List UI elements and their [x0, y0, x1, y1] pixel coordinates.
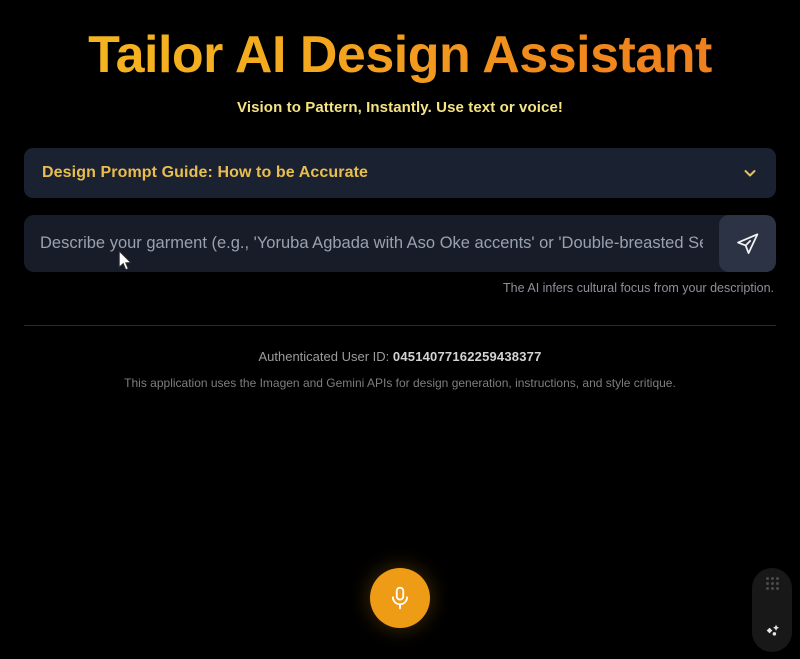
footer: Authenticated User ID: 04514077162259438… [24, 349, 776, 390]
header: Tailor AI Design Assistant Vision to Pat… [24, 0, 776, 116]
section-divider [24, 325, 776, 326]
app-root: Tailor AI Design Assistant Vision to Pat… [0, 0, 800, 659]
page-subtitle: Vision to Pattern, Instantly. Use text o… [24, 99, 776, 116]
send-button[interactable] [719, 215, 776, 272]
microphone-button[interactable] [370, 568, 430, 628]
chevron-down-icon[interactable] [742, 165, 758, 181]
auth-label: Authenticated User ID: [258, 349, 389, 364]
page-title: Tailor AI Design Assistant [24, 26, 776, 86]
sparkle-icon[interactable] [761, 620, 783, 642]
send-icon [735, 231, 760, 256]
authenticated-user-line: Authenticated User ID: 04514077162259438… [24, 349, 776, 364]
accordion-title: Design Prompt Guide: How to be Accurate [42, 164, 368, 182]
floating-assistant-widget[interactable] [752, 568, 792, 652]
prompt-row [24, 215, 776, 272]
drag-handle-icon[interactable] [766, 577, 779, 590]
garment-description-input[interactable] [24, 215, 719, 272]
api-note: This application uses the Imagen and Gem… [24, 376, 776, 390]
microphone-icon [387, 585, 413, 611]
auth-user-id: 04514077162259438377 [393, 349, 542, 364]
prompt-hint: The AI infers cultural focus from your d… [24, 281, 776, 295]
design-prompt-guide-accordion[interactable]: Design Prompt Guide: How to be Accurate [24, 148, 776, 198]
